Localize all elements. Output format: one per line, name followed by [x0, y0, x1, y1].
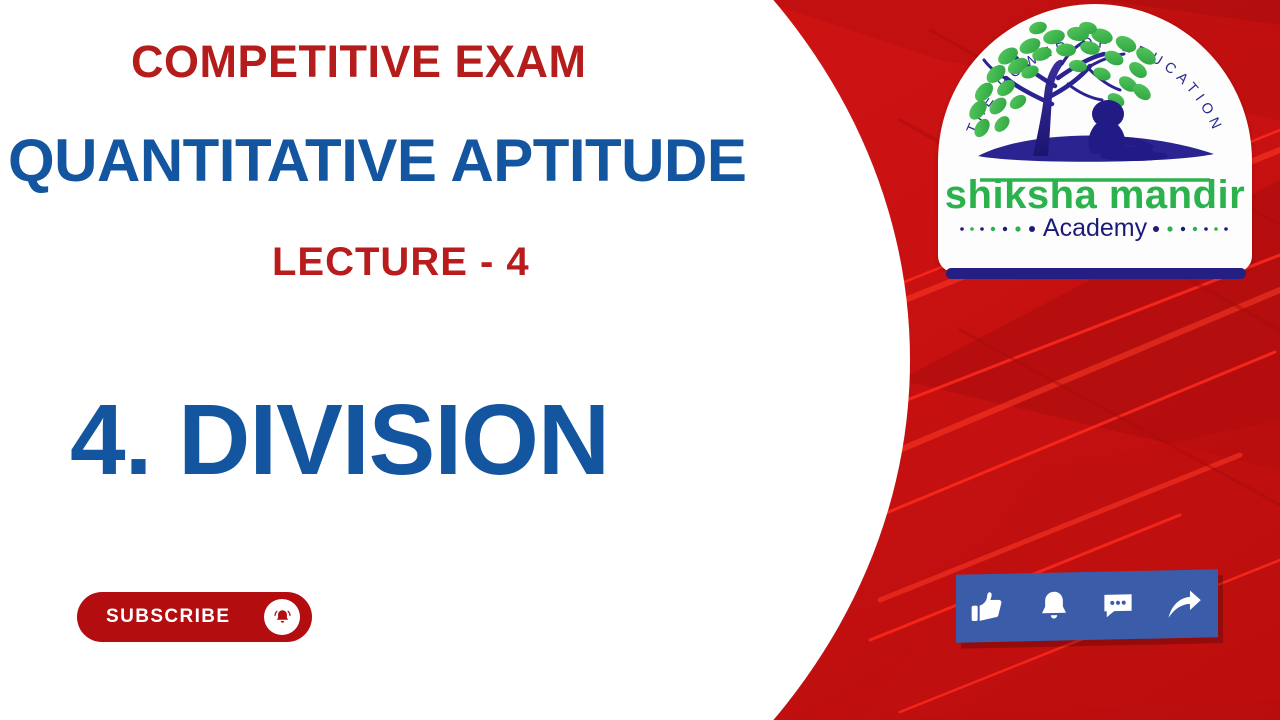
- slide-canvas: COMPETITIVE EXAM QUANTITATIVE APTITUDE L…: [0, 0, 1280, 720]
- topic-title: 4. DIVISION: [70, 383, 609, 498]
- comment-glyph: [1099, 586, 1137, 625]
- bell-glyph: [271, 606, 294, 629]
- social-actions-bar[interactable]: [956, 569, 1218, 642]
- logo-sub-name: Academy: [1043, 214, 1148, 242]
- logo-brand-name: shiksha mandir: [945, 173, 1245, 217]
- bell-icon[interactable]: [264, 599, 300, 635]
- thumbs-up-icon[interactable]: [969, 588, 1009, 629]
- page-title-quantitative-aptitude: QUANTITATIVE APTITUDE: [8, 126, 746, 195]
- bell-glyph: [1035, 587, 1073, 626]
- logo-dot-flourish-left: [960, 226, 1035, 232]
- page-subtitle-competitive-exam: COMPETITIVE EXAM: [131, 36, 587, 88]
- bell-icon[interactable]: [1035, 587, 1073, 626]
- subscribe-button[interactable]: SUBSCRIBE: [77, 592, 312, 642]
- share-arrow-icon[interactable]: [1163, 583, 1205, 626]
- academy-logo: THE POWER OF EDUCATION: [938, 4, 1252, 282]
- thumbs-up-glyph: [969, 588, 1009, 629]
- logo-artwork: THE POWER OF EDUCATION: [938, 4, 1252, 282]
- comment-icon[interactable]: [1099, 586, 1137, 625]
- logo-dot-flourish-right: [1153, 226, 1228, 232]
- logo-bottom-bar: [946, 268, 1246, 279]
- share-arrow-glyph: [1163, 583, 1205, 626]
- lecture-number-label: LECTURE - 4: [272, 240, 530, 285]
- subscribe-button-label: SUBSCRIBE: [106, 606, 231, 628]
